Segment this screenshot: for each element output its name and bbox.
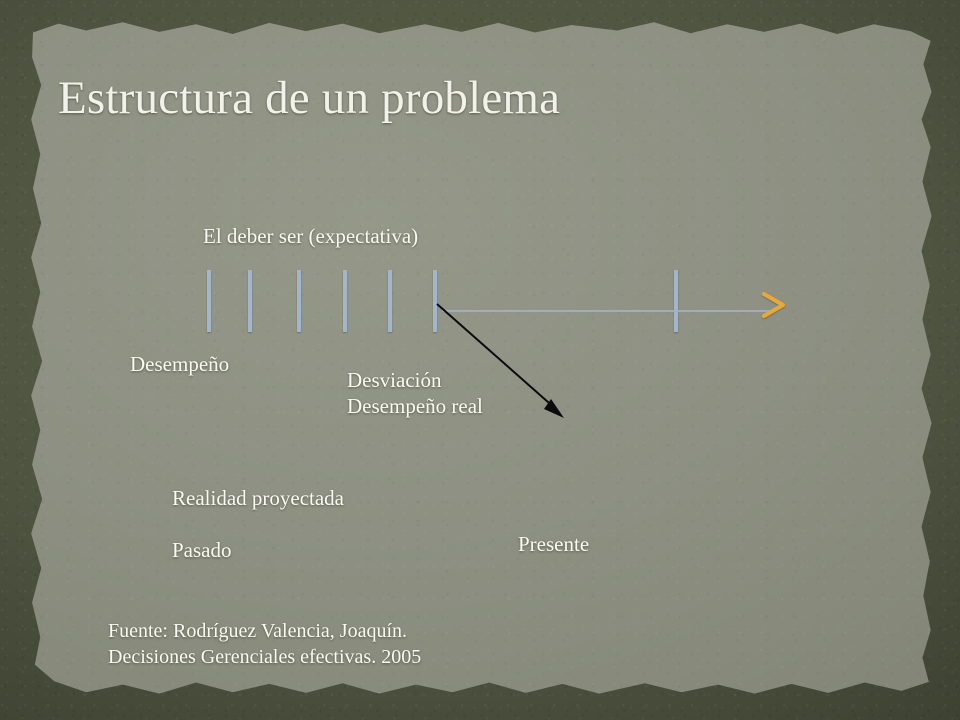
source-line-1: Fuente: Rodríguez Valencia, Joaquín. bbox=[108, 618, 421, 644]
label-expectativa: El deber ser (expectativa) bbox=[203, 224, 418, 250]
label-desviacion-line1: Desviación bbox=[347, 368, 483, 394]
slide-content: Estructura de un problema bbox=[0, 0, 960, 720]
tick-marks-group bbox=[209, 270, 676, 332]
slide-canvas: Estructura de un problema bbox=[0, 0, 960, 720]
label-desviacion-block: Desviación Desempeño real bbox=[347, 368, 483, 419]
label-pasado: Pasado bbox=[172, 538, 232, 564]
label-presente: Presente bbox=[518, 532, 589, 558]
label-realidad-proyectada: Realidad proyectada bbox=[172, 486, 344, 512]
source-line-2: Decisiones Gerenciales efectivas. 2005 bbox=[108, 644, 421, 670]
label-desempeno: Desempeño bbox=[130, 352, 229, 378]
source-citation: Fuente: Rodríguez Valencia, Joaquín. Dec… bbox=[108, 618, 421, 671]
label-desviacion-line2: Desempeño real bbox=[347, 394, 483, 420]
